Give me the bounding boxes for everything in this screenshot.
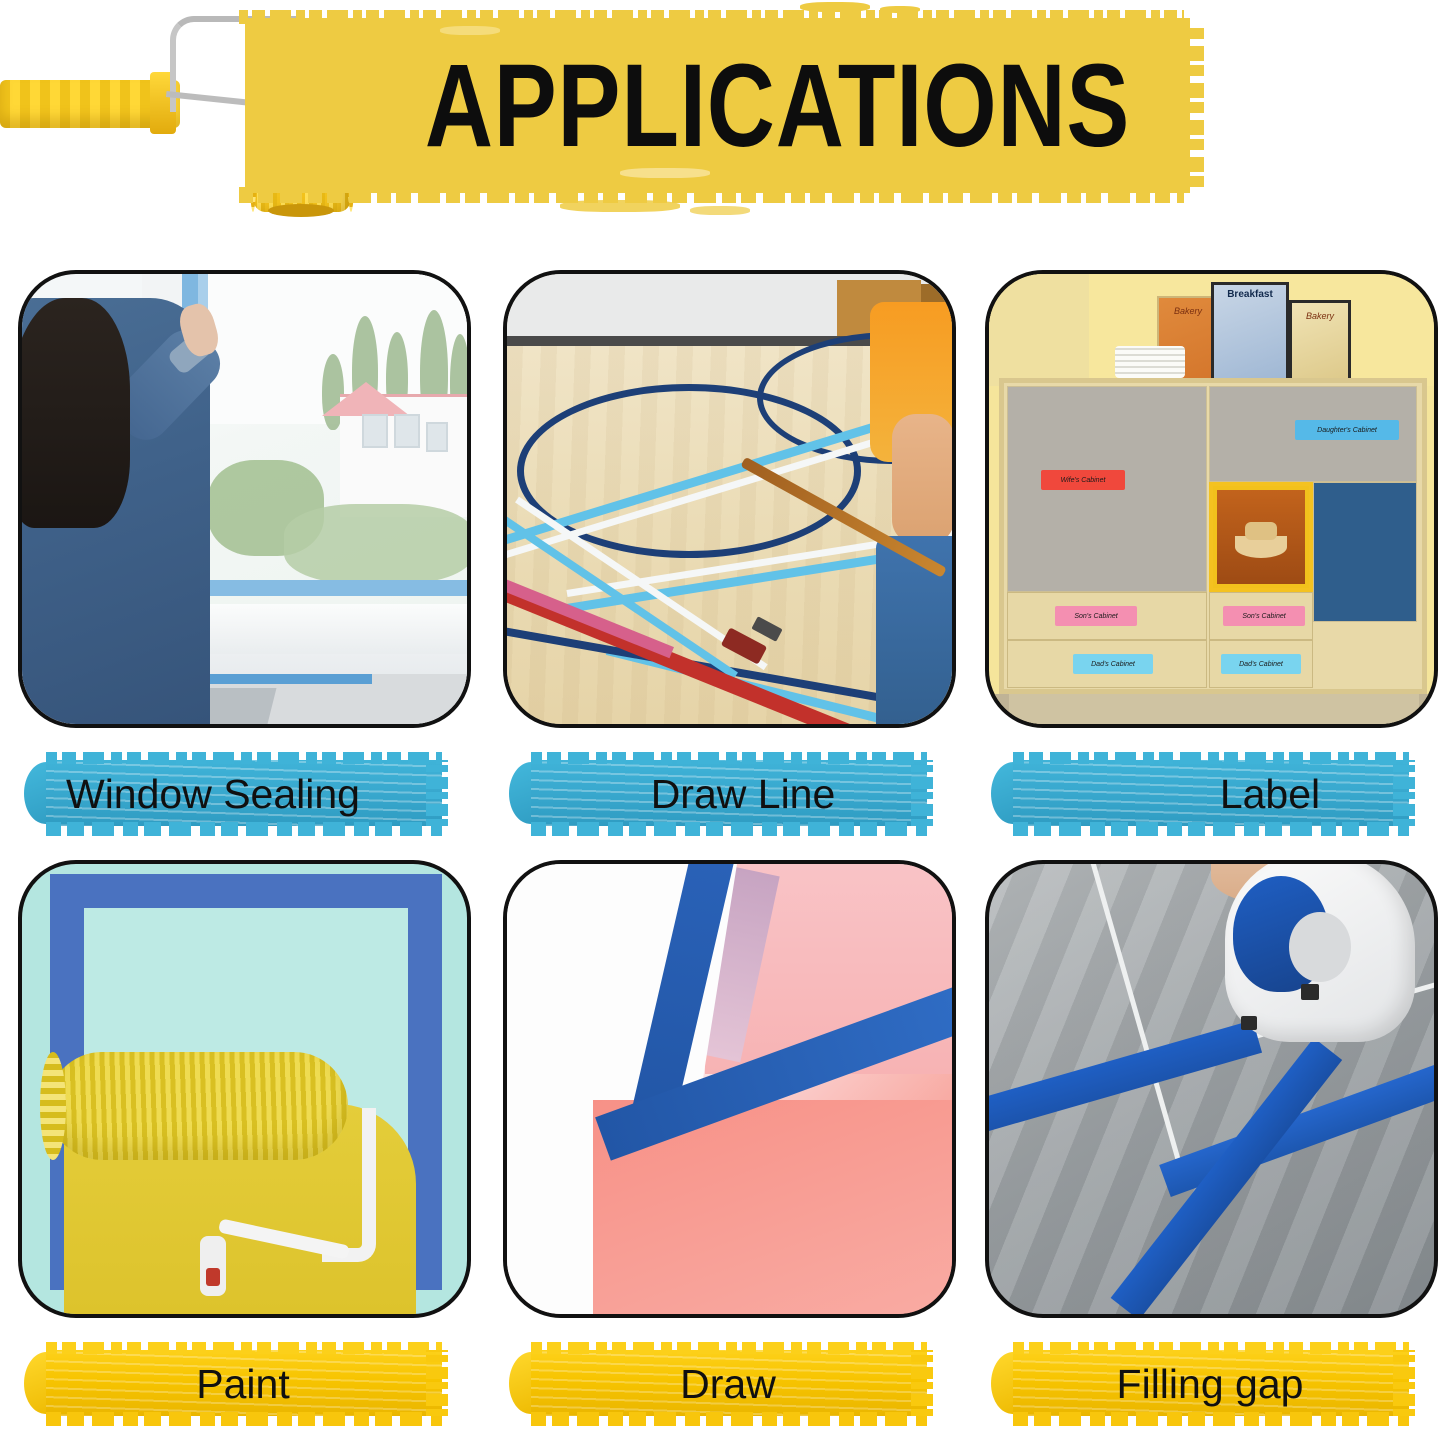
dispenser-slot — [1301, 984, 1319, 1000]
application-card-paint[interactable]: Paint — [18, 860, 468, 1432]
roller-sleeve — [48, 1052, 348, 1160]
application-label: Window Sealing — [18, 746, 468, 842]
roller-grip — [200, 1236, 226, 1296]
roller-grip-accent — [206, 1268, 220, 1286]
paint-splatter — [690, 206, 750, 215]
book-cover: Breakfast — [1211, 282, 1289, 384]
application-card-filling-gap[interactable]: Filling gap — [985, 860, 1435, 1432]
house-window — [362, 414, 388, 448]
tape-label-cyan: Dad's Cabinet — [1221, 654, 1301, 674]
person-denim-shirt — [18, 298, 210, 728]
label-banner-draw: Draw — [503, 1336, 953, 1432]
applications-grid: Window Sealing — [0, 250, 1445, 1445]
bowl — [1245, 522, 1277, 540]
application-card-draw-line[interactable]: Draw Line — [503, 270, 953, 842]
worker-jeans — [876, 536, 956, 726]
photo-draw-line — [503, 270, 956, 728]
header-banner: APPLICATIONS — [0, 0, 1445, 240]
label-banner-paint: Paint — [18, 1336, 468, 1432]
label-banner-label: Label — [985, 746, 1435, 842]
person-hair — [18, 298, 130, 528]
paint-splatter — [800, 2, 870, 12]
label-banner-filling-gap: Filling gap — [985, 1336, 1435, 1432]
book-cover: Bakery — [1289, 300, 1351, 384]
house-roof — [322, 382, 410, 416]
foliage — [284, 504, 471, 584]
roller-end-cap — [268, 204, 334, 217]
worker-arm — [892, 414, 954, 544]
dispenser-slot — [1241, 1016, 1257, 1030]
application-label: Filling gap — [985, 1336, 1435, 1432]
book-title: Bakery — [1159, 306, 1217, 316]
roller-frame — [322, 1108, 376, 1262]
book-title: Bakery — [1292, 311, 1348, 321]
application-label: Paint — [18, 1336, 468, 1432]
application-card-label[interactable]: Bakery Breakfast Bakery Wife's Cabinet D… — [985, 270, 1435, 842]
label-banner-draw-line: Draw Line — [503, 746, 953, 842]
header-stroke-right-edge — [1182, 24, 1204, 187]
photo-paint — [18, 860, 471, 1318]
photo-draw — [503, 860, 956, 1318]
blue-tape-strip — [985, 1020, 1262, 1135]
paint-splatter — [880, 6, 920, 13]
house-window — [394, 414, 420, 448]
cabinet-base — [1009, 694, 1419, 724]
room-wall-shadow — [989, 274, 1089, 386]
application-label: Label — [985, 746, 1435, 842]
tape-label-pink: Son's Cabinet — [1055, 606, 1137, 626]
application-card-window-sealing[interactable]: Window Sealing — [18, 270, 468, 842]
book-title: Breakfast — [1214, 289, 1286, 300]
tape-label-cyan: Dad's Cabinet — [1073, 654, 1153, 674]
house-window — [426, 422, 448, 452]
application-label: Draw — [503, 1336, 953, 1432]
cabinet-door-blue — [1313, 482, 1417, 622]
page-title: APPLICATIONS — [340, 18, 1096, 193]
tape-label-blue: Daughter's Cabinet — [1295, 420, 1399, 440]
label-banner-window-sealing: Window Sealing — [18, 746, 468, 842]
application-label: Draw Line — [503, 746, 953, 842]
application-card-draw[interactable]: Draw — [503, 860, 953, 1432]
dispenser-hub — [1289, 912, 1351, 982]
photo-window-sealing — [18, 270, 471, 728]
stacked-plates — [1115, 346, 1185, 378]
tape-label-red: Wife's Cabinet — [1041, 470, 1125, 490]
paint-splatter — [560, 200, 680, 212]
photo-filling-gap — [985, 860, 1438, 1318]
grout-line — [1085, 860, 1184, 1171]
photo-label: Bakery Breakfast Bakery Wife's Cabinet D… — [985, 270, 1438, 728]
tape-label-pink: Son's Cabinet — [1223, 606, 1305, 626]
